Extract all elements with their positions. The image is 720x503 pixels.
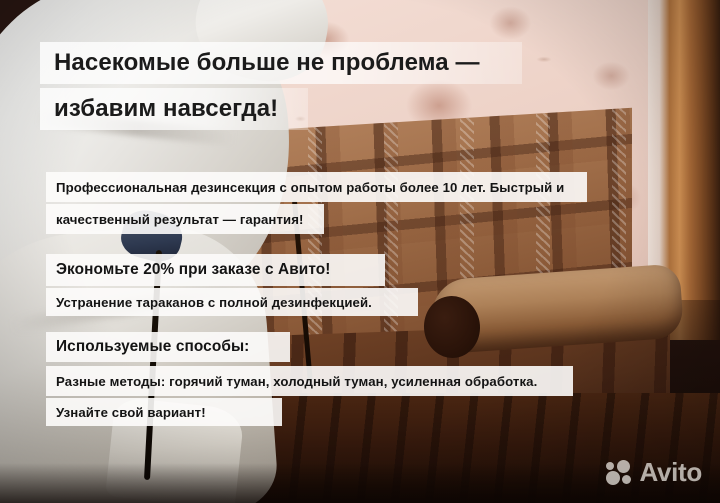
intro-line-1: Профессиональная дезинсекция с опытом ра…	[46, 172, 587, 202]
avito-watermark: Avito	[606, 459, 702, 485]
avito-dots-icon	[606, 460, 633, 485]
offer-subline: Устранение тараканов с полной дезинфекци…	[46, 288, 418, 316]
methods-cta-line: Узнайте свой вариант!	[46, 398, 282, 426]
offer-headline: Экономьте 20% при заказе с Авито!	[46, 254, 385, 286]
avito-dot-bottom-right	[622, 475, 631, 484]
avito-dot-top-right	[617, 460, 630, 473]
avito-dot-bottom-left	[606, 471, 620, 485]
methods-heading: Используемые способы:	[46, 332, 290, 362]
avito-wordmark: Avito	[639, 459, 702, 485]
methods-list-line: Разные методы: горячий туман, холодный т…	[46, 366, 573, 396]
intro-line-2: качественный результат — гарантия!	[46, 204, 324, 234]
headline-line-2: избавим навсегда!	[40, 88, 308, 130]
advertisement-image: Насекомые больше не проблема — избавим н…	[0, 0, 720, 503]
avito-dot-top-left	[606, 462, 614, 470]
headline-line-1: Насекомые больше не проблема —	[40, 42, 522, 84]
